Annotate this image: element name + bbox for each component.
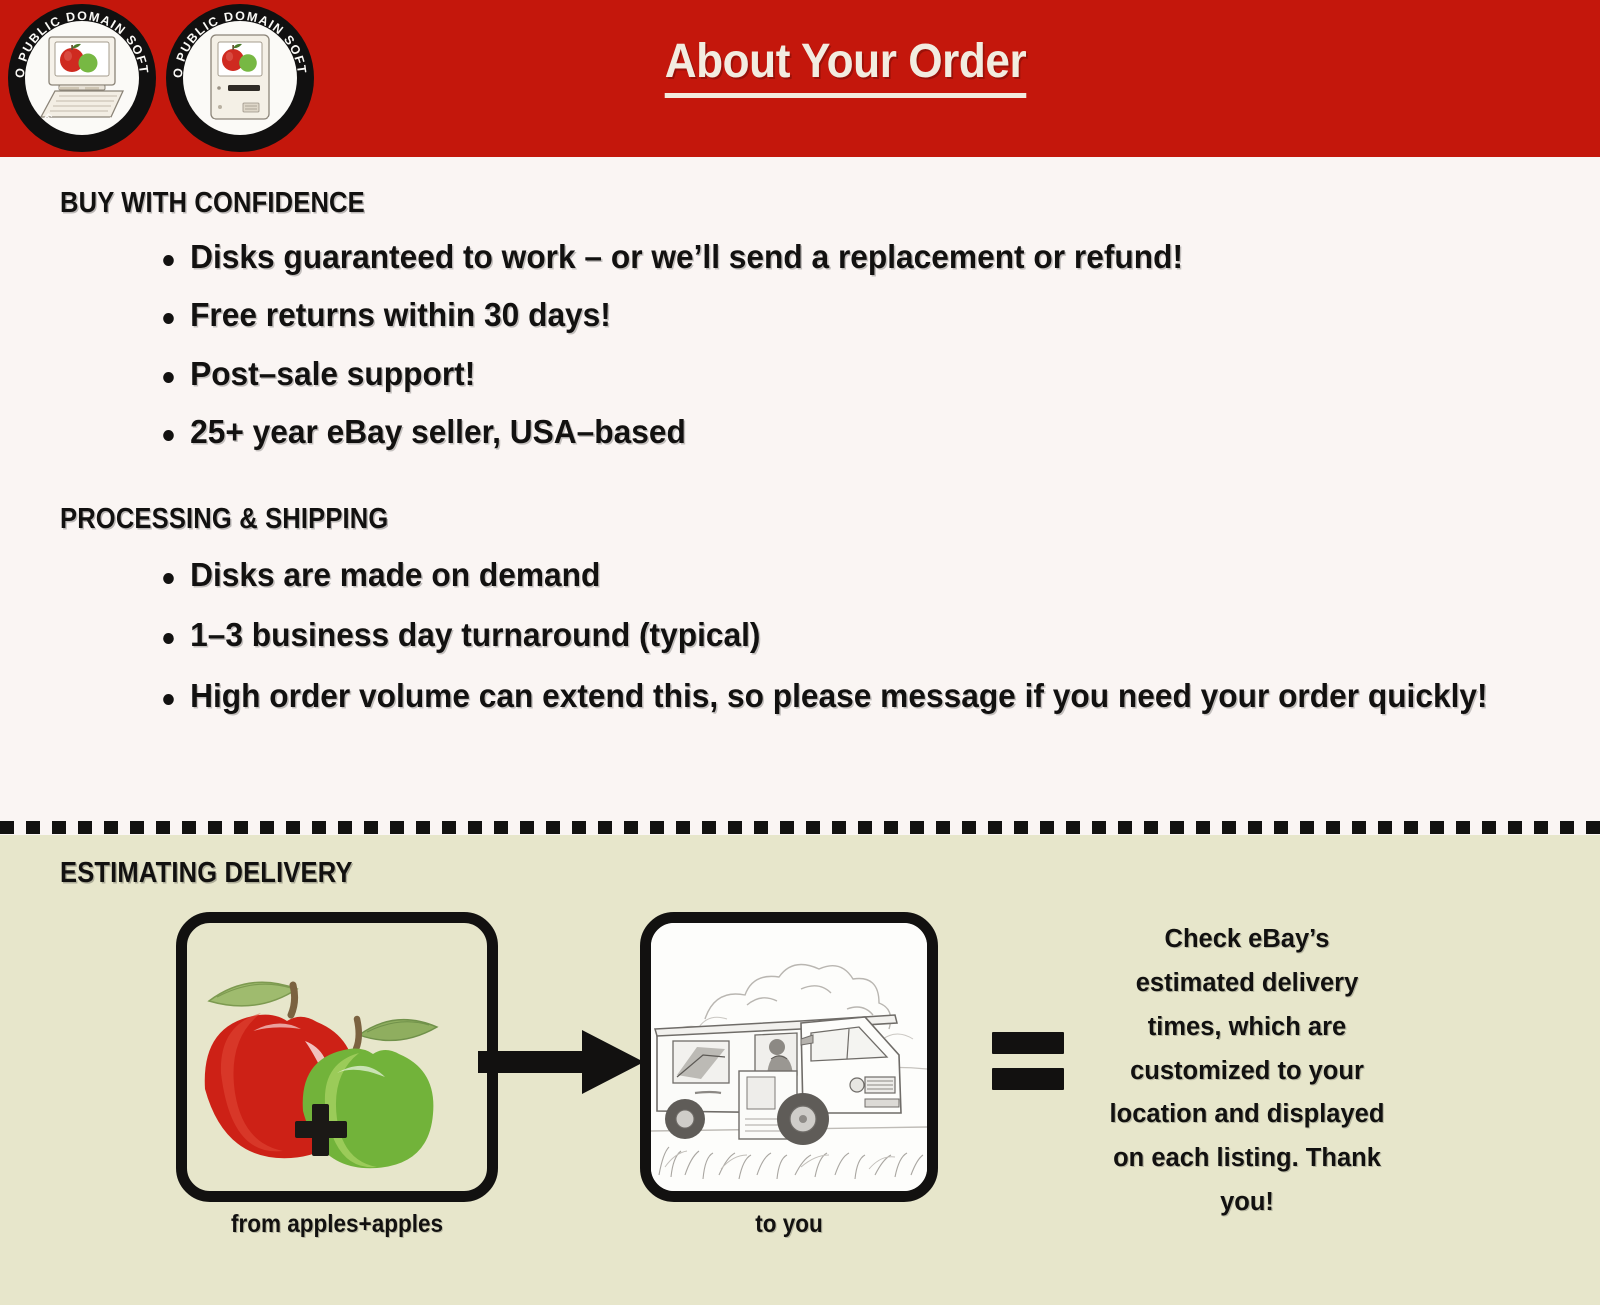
shipping-bullet-list: Disks are made on demand 1–3 business da… bbox=[0, 556, 1600, 715]
logo-apple-ii-artwork bbox=[25, 21, 139, 135]
logo-macintosh-artwork bbox=[183, 21, 297, 135]
equals-bar-top bbox=[992, 1032, 1064, 1054]
confidence-bullet-list: Disks guaranteed to work – or we’ll send… bbox=[0, 238, 1600, 451]
list-item: 1–3 business day turnaround (typical) bbox=[0, 616, 1536, 654]
section-processing-and-shipping: PROCESSING & SHIPPING Disks are made on … bbox=[0, 503, 1600, 715]
logo-row: RETRO PUBLIC DOMAIN SOFTWARE APPLE II · … bbox=[8, 4, 314, 152]
logo-macintosh-badge: RETRO PUBLIC DOMAIN SOFTWARE APPLE II · … bbox=[166, 4, 314, 152]
list-item: Free returns within 30 days! bbox=[0, 296, 1536, 334]
list-item: Post–sale support! bbox=[0, 355, 1536, 393]
equals-sign-icon bbox=[992, 1032, 1064, 1090]
classic-macintosh-icon bbox=[183, 21, 297, 135]
delivery-note-text: Check eBay’s estimated delivery times, w… bbox=[1106, 918, 1388, 1225]
mail-truck-destination-card bbox=[640, 912, 938, 1202]
apples-source-caption: from apples+apples bbox=[192, 1210, 482, 1239]
usps-mail-truck-pencil-sketch bbox=[651, 923, 927, 1191]
section-buy-with-confidence: BUY WITH CONFIDENCE Disks guaranteed to … bbox=[0, 187, 1600, 451]
mail-truck-destination-caption: to you bbox=[655, 1210, 923, 1239]
section-heading-shipping: PROCESSING & SHIPPING bbox=[60, 503, 1415, 536]
list-item: 25+ year eBay seller, USA–based bbox=[0, 413, 1536, 451]
apple-ii-computer-icon bbox=[25, 21, 139, 135]
list-item: High order volume can extend this, so pl… bbox=[0, 677, 1536, 715]
logo-apple-ii-badge: RETRO PUBLIC DOMAIN SOFTWARE APPLE II · … bbox=[8, 4, 156, 152]
delivery-flow-diagram: from apples+apples bbox=[0, 912, 1600, 1242]
right-arrow-icon bbox=[478, 1030, 644, 1094]
list-item: Disks guaranteed to work – or we’ll send… bbox=[0, 238, 1536, 276]
upper-content: BUY WITH CONFIDENCE Disks guaranteed to … bbox=[0, 157, 1600, 817]
list-item: Disks are made on demand bbox=[0, 556, 1536, 594]
section-estimating-delivery: ESTIMATING DELIVERY bbox=[0, 835, 1600, 1305]
section-heading-delivery: ESTIMATING DELIVERY bbox=[60, 857, 1415, 890]
dashed-divider bbox=[0, 817, 1600, 835]
page-title-text: About Your Order bbox=[664, 34, 1025, 98]
section-heading-confidence: BUY WITH CONFIDENCE bbox=[60, 187, 1415, 220]
dashed-line bbox=[0, 821, 1600, 834]
equals-bar-bottom bbox=[992, 1068, 1064, 1090]
red-and-green-apples-illustration bbox=[187, 923, 487, 1191]
apples-source-card bbox=[176, 912, 498, 1202]
page-header: RETRO PUBLIC DOMAIN SOFTWARE APPLE II · … bbox=[0, 0, 1600, 157]
